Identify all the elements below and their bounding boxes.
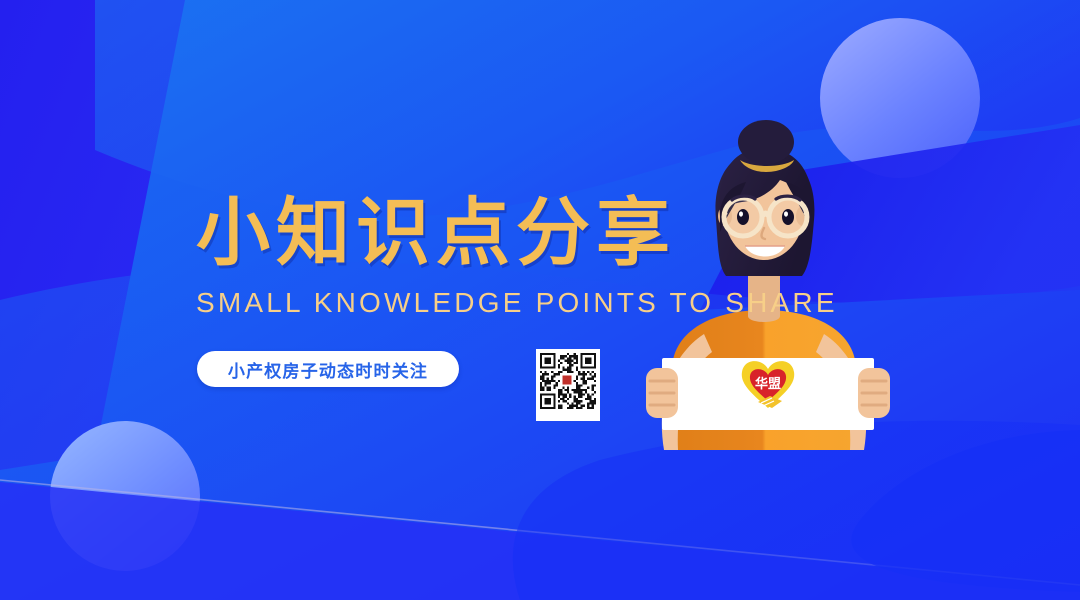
left-eye-glint — [739, 211, 743, 216]
hair-bun — [738, 120, 794, 164]
right-hand — [858, 368, 890, 418]
qr-code[interactable] — [536, 349, 600, 421]
illustration-woman-with-sign: 华盟 — [612, 120, 942, 450]
right-eye — [782, 209, 794, 225]
promo-banner: 华盟 小知识点分享 SMALL KNOWLEDGE POINTS TO SHAR… — [0, 0, 1080, 600]
logo-text: 华盟 — [755, 376, 781, 392]
page-subtitle: SMALL KNOWLEDGE POINTS TO SHARE — [196, 286, 838, 320]
page-title: 小知识点分享 — [196, 193, 676, 273]
left-hand — [646, 368, 678, 418]
tagline-pill-label: 小产权房子动态时时关注 — [228, 357, 428, 382]
left-eye — [737, 209, 749, 225]
qr-code-canvas — [540, 353, 596, 409]
tagline-pill-button[interactable]: 小产权房子动态时时关注 — [197, 351, 459, 387]
right-eye-glint — [784, 211, 788, 216]
